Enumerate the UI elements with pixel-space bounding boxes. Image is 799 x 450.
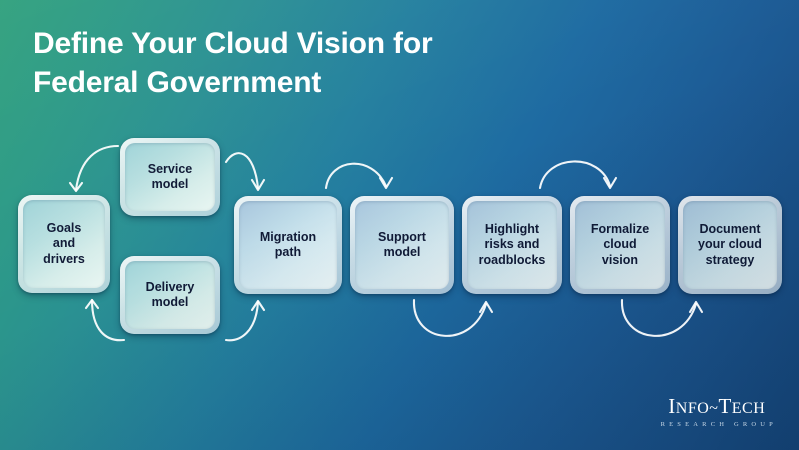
logo-wordmark: INFO~TECH [657, 396, 777, 417]
title-line-1: Define Your Cloud Vision for [33, 24, 573, 63]
title-line-2: Federal Government [33, 63, 573, 102]
slide-canvas: Define Your Cloud Vision for Federal Gov… [0, 0, 799, 450]
connector-service-to-migration [226, 153, 264, 190]
connector-goals-to-delivery [86, 300, 124, 340]
logo-info-rest: NFO [676, 400, 710, 417]
connector-delivery-to-migration [226, 301, 264, 340]
connector-support-to-risks [414, 300, 492, 336]
logo-letter-i: I [668, 394, 676, 418]
connector-risks-to-formalize [540, 161, 616, 188]
logo-letter-t: T [718, 394, 731, 418]
connector-formalize-to-document [622, 300, 702, 336]
connector-migration-to-support [326, 164, 392, 188]
brand-logo: INFO~TECH RESEARCH GROUP [657, 396, 777, 428]
page-title: Define Your Cloud Vision for Federal Gov… [33, 24, 573, 102]
logo-tagline: RESEARCH GROUP [657, 421, 777, 428]
connector-goals-to-service [70, 146, 118, 191]
logo-tech-rest: ECH [732, 400, 766, 417]
